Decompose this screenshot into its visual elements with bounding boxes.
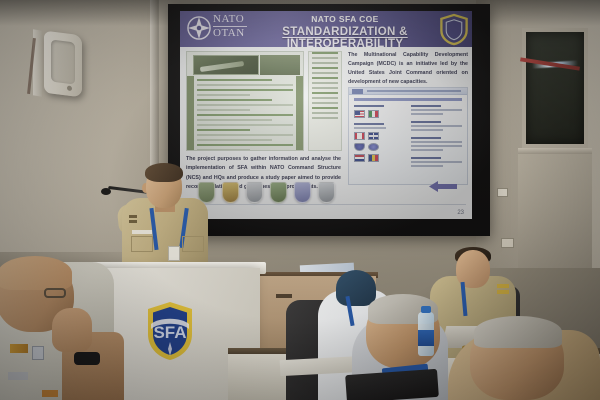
crest-blue	[294, 182, 311, 203]
slide-body: The Multinational Capability Development…	[180, 47, 472, 219]
bottle-label	[418, 330, 434, 346]
foreground-officer-hand	[52, 308, 92, 352]
seated-officer-rank-insignia	[497, 284, 509, 288]
wall-socket[interactable]	[501, 238, 514, 248]
doc-line	[197, 89, 293, 91]
cabinet-handle[interactable]	[276, 294, 292, 298]
wristwatch	[74, 352, 100, 365]
flag-uk-icon	[368, 132, 379, 140]
presenter-hair	[145, 163, 183, 182]
otan-word: OTAN	[213, 28, 247, 39]
doc-line	[197, 124, 293, 126]
nato-compass-star-logo	[186, 15, 212, 41]
doc-line	[312, 107, 338, 109]
uniform-pocket	[131, 236, 153, 252]
mcdc-website-screenshot	[348, 87, 468, 185]
doc-line	[312, 92, 338, 94]
website-columns	[349, 101, 467, 169]
doc-line	[312, 57, 338, 59]
website-line	[411, 157, 441, 159]
website-line	[411, 121, 441, 123]
doc-header-photo	[193, 55, 259, 75]
website-flag-row-2	[354, 132, 405, 140]
website-line	[411, 113, 443, 115]
website-flag-row-4	[354, 154, 405, 162]
slide-title-top: NATO SFA COE	[254, 14, 436, 24]
uniform-id-badge	[32, 346, 44, 360]
website-line	[354, 123, 384, 125]
doc-line	[197, 119, 272, 121]
website-line	[411, 149, 443, 151]
doc-line	[312, 77, 338, 79]
uniform-pocket	[182, 236, 204, 252]
slide-header-band: NATO OTAN NATO SFA COE STANDARDIZATION &…	[180, 11, 472, 47]
crest-gold	[222, 182, 239, 203]
website-line	[411, 165, 443, 167]
website-line	[411, 137, 441, 139]
attendee-white-shirt-head	[336, 270, 376, 306]
presenter-rank-insignia	[129, 215, 137, 218]
foreground-attendee-right-hair	[474, 316, 562, 348]
flag-us-icon	[354, 110, 365, 118]
light-switch[interactable]	[497, 188, 508, 197]
doc-line	[312, 62, 338, 64]
flag-nl-icon	[354, 154, 365, 162]
presenter-nametag	[132, 230, 152, 234]
crest-grey	[318, 182, 335, 203]
doc-line	[312, 102, 338, 104]
website-line	[411, 109, 462, 111]
nato-otan-wordmark: NATO OTAN	[213, 14, 247, 39]
website-column-right	[411, 105, 462, 169]
doc-line	[197, 144, 293, 146]
water-bottle[interactable]	[418, 312, 434, 356]
crest-row	[198, 182, 335, 203]
crest-silver	[246, 182, 263, 203]
doc-line	[197, 94, 250, 96]
doc-line	[312, 97, 338, 99]
eyeglasses-icon	[44, 288, 66, 298]
website-line	[411, 145, 462, 147]
doc-line	[312, 112, 338, 114]
mcdc-paragraph: The Multinational Capability Development…	[348, 51, 468, 87]
website-flag-row-3	[354, 143, 405, 151]
website-flag-row-1	[354, 110, 405, 118]
presentation-slide: NATO OTAN NATO SFA COE STANDARDIZATION &…	[180, 11, 472, 219]
coe-shield-icon	[439, 13, 469, 46]
doc-line	[197, 99, 272, 101]
website-line	[411, 125, 462, 127]
website-line	[411, 141, 462, 143]
seated-officer-rank-insignia	[497, 290, 509, 294]
right-wall-panel	[518, 154, 592, 268]
flag-ro-icon	[368, 154, 379, 162]
presenter-rank-insignia	[129, 220, 137, 223]
doc-line	[312, 72, 338, 74]
website-line	[411, 105, 441, 107]
right-window	[522, 28, 588, 148]
slide-footer-rule	[186, 204, 466, 205]
website-line	[354, 105, 384, 107]
doc-line	[197, 84, 293, 86]
uniform-patch	[42, 390, 58, 397]
conference-room-photo: NATO OTAN NATO SFA COE STANDARDIZATION &…	[0, 0, 600, 400]
doc-header-bar	[260, 55, 300, 75]
website-column-left	[354, 105, 405, 169]
doc-line	[312, 67, 338, 69]
doc-line	[312, 117, 338, 119]
doc-line	[197, 104, 293, 106]
website-line	[411, 129, 443, 131]
doc-line	[312, 87, 338, 89]
uniform-ribbon-badge	[10, 344, 28, 353]
doc-line	[197, 129, 250, 131]
nato-word: NATO	[213, 14, 247, 25]
flag-it-icon	[368, 110, 379, 118]
speaker-led-icon	[67, 85, 72, 91]
doc-line	[312, 82, 338, 84]
website-line	[354, 127, 386, 129]
emblem-shield-icon	[354, 143, 365, 151]
sfa-document-second-page	[308, 51, 342, 151]
doc-line	[197, 79, 272, 81]
wall-speaker	[44, 31, 82, 98]
doc-line	[312, 52, 338, 54]
bottle-cap	[421, 306, 431, 313]
laptop[interactable]	[345, 369, 439, 400]
microphone-head-icon	[101, 188, 111, 195]
website-logo-icon	[352, 89, 363, 94]
sfa-document-screenshot	[186, 51, 304, 151]
sfa-emblem-text: SFA	[153, 323, 186, 342]
doc-line	[197, 109, 250, 111]
back-arrow-icon[interactable]	[428, 180, 458, 193]
uniform-nametag	[8, 372, 28, 380]
doc-right-margin	[296, 76, 303, 150]
presenter-id-badge	[168, 246, 180, 261]
doc-line	[197, 149, 250, 151]
doc-text-lines	[197, 79, 293, 151]
foreground-officer-hair	[0, 256, 72, 290]
sfa-shield-emblem: SFA	[145, 300, 195, 362]
doc-line	[197, 114, 293, 116]
crest-olive	[270, 182, 287, 203]
flag-ca-icon	[354, 132, 365, 140]
emblem-round-icon	[368, 143, 379, 151]
doc-line	[197, 139, 272, 141]
website-header	[349, 88, 467, 95]
speaker-cone-icon	[51, 40, 75, 85]
doc-left-margin	[187, 76, 194, 150]
website-line	[411, 161, 462, 163]
slide-title-group: NATO SFA COE STANDARDIZATION & INTEROPER…	[254, 14, 436, 50]
doc-line	[197, 134, 293, 136]
slide-number: 23	[457, 210, 464, 216]
